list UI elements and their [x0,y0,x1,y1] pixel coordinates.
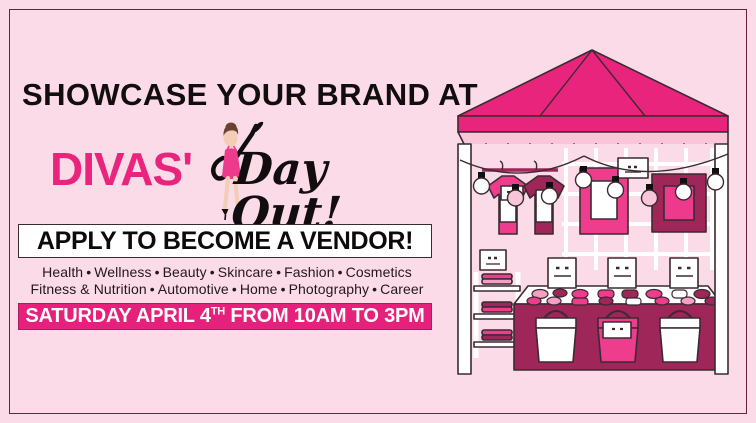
category-list: Health•Wellness•Beauty•Skincare•Fashion•… [18,264,436,298]
category-line-2: Fitness & Nutrition•Automotive•Home•Phot… [18,281,436,298]
headline: SHOWCASE YOUR BRAND AT [22,79,438,110]
script-wordmark: Day Out! [230,148,431,236]
date-banner-label: SATURDAY APRIL 4TH FROM 10AM TO 3PM [25,305,424,328]
category-line-1: Health•Wellness•Beauty•Skincare•Fashion•… [18,264,436,281]
apply-vendor-banner[interactable]: APPLY TO BECOME A VENDOR! [18,224,432,258]
category-photography: Photography [289,281,370,297]
poster: SHOWCASE YOUR BRAND AT DIVAS' [0,0,756,423]
category-skincare: Skincare [218,264,273,280]
brand-name: DIVAS' [50,146,192,192]
category-career: Career [380,281,423,297]
date-banner: SATURDAY APRIL 4TH FROM 10AM TO 3PM [18,303,432,330]
category-wellness: Wellness [94,264,151,280]
vendor-booth-illustration [440,18,750,408]
logo-lockup: DIVAS' [28,140,428,210]
date-suffix: FROM 10AM TO 3PM [230,305,424,327]
text-column: SHOWCASE YOUR BRAND AT DIVAS' [0,0,452,423]
apply-vendor-label: APPLY TO BECOME A VENDOR! [37,227,413,256]
category-automotive: Automotive [158,281,229,297]
category-beauty: Beauty [163,264,207,280]
category-cosmetics: Cosmetics [346,264,412,280]
category-fashion: Fashion [284,264,335,280]
date-ordinal: TH [211,305,225,317]
category-home: Home [240,281,278,297]
date-prefix: SATURDAY APRIL 4 [25,305,210,327]
category-health: Health [42,264,83,280]
category-fitness-nutrition: Fitness & Nutrition [30,281,146,297]
